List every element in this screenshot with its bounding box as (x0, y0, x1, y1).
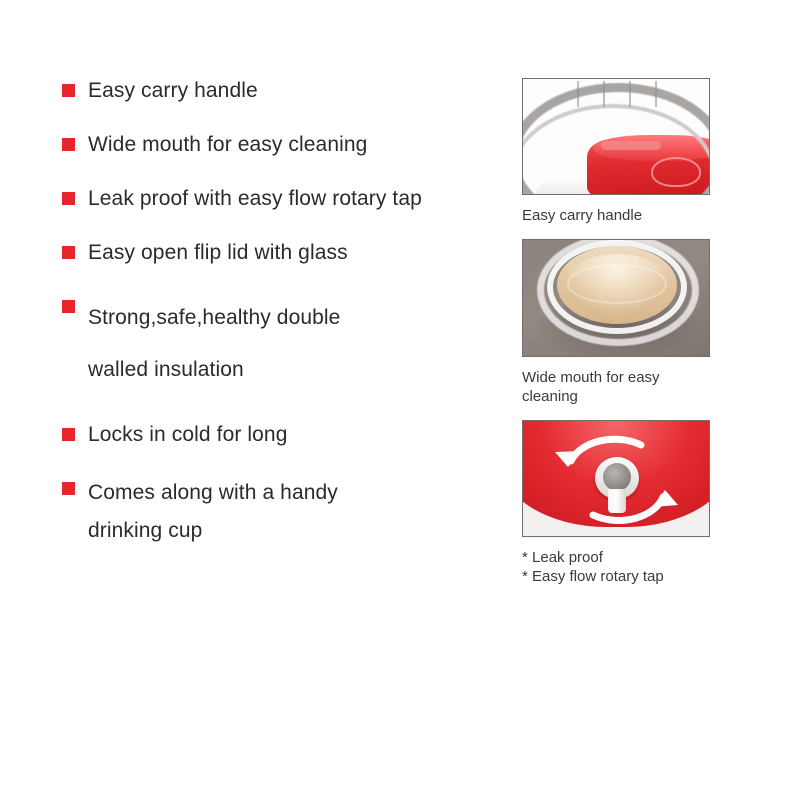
handle-ribs-shape (563, 81, 673, 107)
feature-item-locks-in-cold: Locks in cold for long (62, 420, 502, 450)
photo-block-wide-mouth: Wide mouth for easy cleaning (522, 239, 712, 406)
carry-handle-inner-arc-shape (522, 104, 710, 195)
red-square-bullet-icon (62, 300, 75, 313)
photo-caption: Easy carry handle (522, 206, 712, 225)
red-square-bullet-icon (62, 428, 75, 441)
feature-label: Comes along with a handy drinking cup (88, 474, 338, 550)
rotary-tap-photo (522, 420, 710, 537)
mouth-glass-rim-shape (547, 240, 687, 334)
feature-label: Easy open flip lid with glass (88, 238, 348, 268)
rotary-tap-knob-shape (603, 463, 631, 491)
photo-caption: * Leak proof * Easy flow rotary tap (522, 548, 712, 586)
photo-block-carry-handle: Easy carry handle (522, 78, 712, 225)
photo-caption: Wide mouth for easy cleaning (522, 368, 712, 406)
feature-label: Locks in cold for long (88, 420, 287, 450)
carry-handle-photo (522, 78, 710, 195)
feature-label: Easy carry handle (88, 76, 258, 106)
rotary-tap-spout-shape (608, 489, 626, 513)
red-square-bullet-icon (62, 84, 75, 97)
feature-item-leak-proof-rotary-tap: Leak proof with easy flow rotary tap (62, 184, 502, 214)
feature-label: Wide mouth for easy cleaning (88, 130, 367, 160)
photo-column: Easy carry handle Wide mouth for easy cl… (522, 78, 712, 600)
photo-block-rotary-tap: * Leak proof * Easy flow rotary tap (522, 420, 712, 586)
red-square-bullet-icon (62, 138, 75, 151)
feature-item-easy-carry-handle: Easy carry handle (62, 76, 502, 106)
wide-mouth-photo (522, 239, 710, 357)
red-square-bullet-icon (62, 246, 75, 259)
red-square-bullet-icon (62, 482, 75, 495)
feature-item-handy-drinking-cup: Comes along with a handy drinking cup (62, 474, 502, 550)
feature-item-double-walled-insulation: Strong,safe,healthy double walled insula… (62, 292, 502, 396)
feature-item-wide-mouth: Wide mouth for easy cleaning (62, 130, 502, 160)
red-square-bullet-icon (62, 192, 75, 205)
feature-item-easy-open-flip-lid: Easy open flip lid with glass (62, 238, 502, 268)
feature-label: Strong,safe,healthy double walled insula… (88, 292, 340, 396)
feature-label: Leak proof with easy flow rotary tap (88, 184, 422, 214)
feature-list: Easy carry handle Wide mouth for easy cl… (62, 76, 502, 574)
